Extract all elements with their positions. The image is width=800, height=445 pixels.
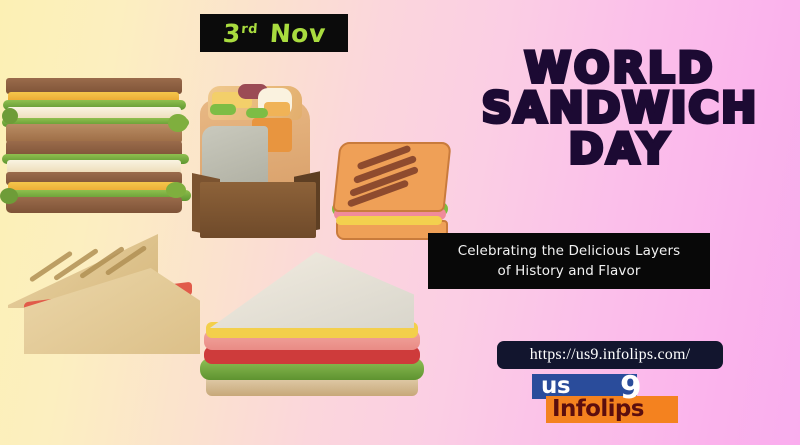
- logo-bottom-block: Infolips: [546, 396, 678, 423]
- club-sandwich-illustration: [6, 78, 182, 213]
- infolips-logo[interactable]: us Infolips 9: [524, 374, 684, 424]
- subtitle-banner: Celebrating the Delicious Layers of Hist…: [428, 233, 710, 289]
- date-ordinal: rd: [240, 21, 258, 36]
- title-line-1: WORLD: [450, 48, 790, 88]
- triangle-sandwich-illustration: [196, 252, 428, 404]
- subtitle-line-2: of History and Flavor: [498, 261, 641, 281]
- date-badge-text: 3rd Nov: [222, 21, 326, 46]
- logo-nine-text: 9: [620, 373, 642, 404]
- subtitle-line-1: Celebrating the Delicious Layers: [458, 241, 680, 261]
- website-url-badge[interactable]: https://us9.infolips.com/: [497, 341, 723, 369]
- website-url-text: https://us9.infolips.com/: [530, 346, 691, 364]
- panini-triangle-illustration: [0, 232, 222, 356]
- date-month: Nov: [268, 19, 326, 48]
- date-badge: 3rd Nov: [200, 14, 348, 52]
- page-title: WORLD SANDWICH DAY: [450, 48, 790, 169]
- date-day: 3: [222, 19, 242, 48]
- wrap-in-box-illustration: [186, 78, 338, 240]
- poster-canvas: 3rd Nov WORLD SANDWICH DAY Celebrating t…: [0, 0, 800, 445]
- grilled-sandwich-illustration: [330, 140, 454, 240]
- title-line-3: DAY: [450, 129, 790, 169]
- title-line-2: SANDWICH: [450, 88, 790, 128]
